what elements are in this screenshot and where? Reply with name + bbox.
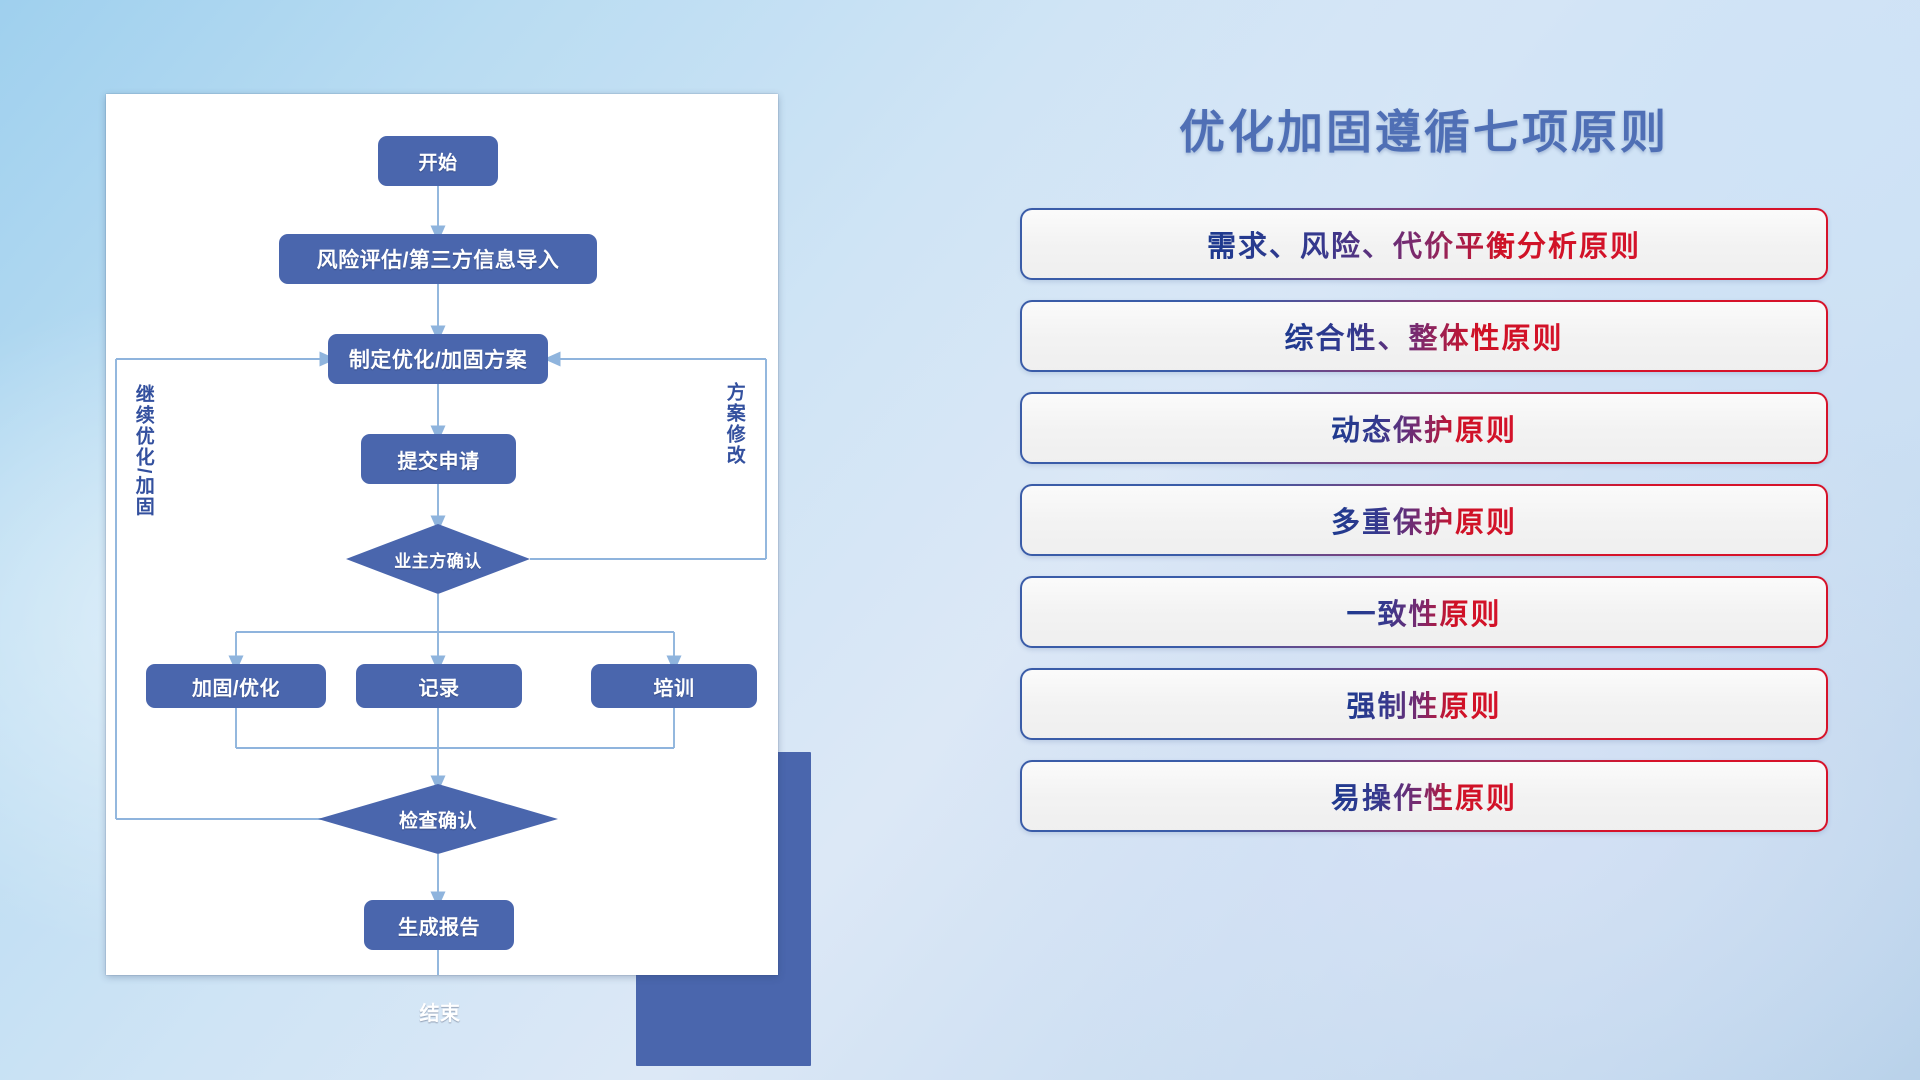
flowchart-canvas: 开始 风险评估/第三方信息导入 制定优化/加固方案 提交申请 业主方确认 加固/… xyxy=(106,94,778,975)
principle-card[interactable]: 易操作性原则 xyxy=(1020,760,1828,832)
principle-card[interactable]: 强制性原则 xyxy=(1020,668,1828,740)
principle-card[interactable]: 多重保护原则 xyxy=(1020,484,1828,556)
principles-list: 需求、风险、代价平衡分析原则 综合性、整体性原则 动态保护原则 多重保护原则 一… xyxy=(1020,208,1828,832)
principles-panel: 优化加固遵循七项原则 需求、风险、代价平衡分析原则 综合性、整体性原则 动态保护… xyxy=(1020,96,1828,832)
principle-card-label: 易操作性原则 xyxy=(1331,775,1517,817)
principle-card-label: 强制性原则 xyxy=(1346,683,1501,725)
flow-label-right-loop: 方案修改 xyxy=(724,382,744,532)
flow-label-left-loop: 继续优化/加固 xyxy=(133,384,153,574)
principle-card[interactable]: 动态保护原则 xyxy=(1020,392,1828,464)
principle-card-label: 综合性、整体性原则 xyxy=(1284,315,1563,357)
principle-card-label: 需求、风险、代价平衡分析原则 xyxy=(1207,223,1641,265)
principles-title: 优化加固遵循七项原则 xyxy=(1020,96,1828,162)
principle-card[interactable]: 一致性原则 xyxy=(1020,576,1828,648)
principle-card-label: 一致性原则 xyxy=(1346,591,1501,633)
principle-card-label: 动态保护原则 xyxy=(1331,407,1517,449)
principle-card[interactable]: 需求、风险、代价平衡分析原则 xyxy=(1020,208,1828,280)
principle-card[interactable]: 综合性、整体性原则 xyxy=(1020,300,1828,372)
flowchart-panel: 开始 风险评估/第三方信息导入 制定优化/加固方案 提交申请 业主方确认 加固/… xyxy=(106,94,778,969)
flowchart-graphics xyxy=(106,94,778,975)
flow-node-end[interactable]: 结束 xyxy=(388,986,492,1036)
principle-card-label: 多重保护原则 xyxy=(1331,499,1517,541)
